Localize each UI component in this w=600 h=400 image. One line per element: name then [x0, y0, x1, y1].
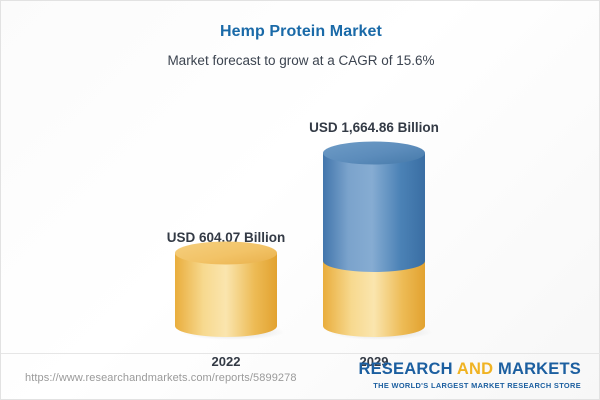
chart-title: Hemp Protein Market [1, 23, 600, 41]
cylinder-2029[interactable] [323, 141, 435, 341]
bar-group-2022: USD 604.07 Billion [175, 79, 277, 341]
value-label-2029: USD 1,664.86 Billion [309, 120, 439, 135]
category-label-2022: 2022 [212, 354, 241, 369]
brand-name: RESEARCH AND MARKETS [358, 361, 581, 378]
bar-group-2029: USD 1,664.86 Billion [323, 79, 425, 341]
plot-area: USD 604.07 Billion [1, 79, 600, 341]
brand-word-research: RESEARCH [358, 360, 456, 378]
brand-tagline: THE WORLD'S LARGEST MARKET RESEARCH STOR… [358, 381, 581, 390]
brand-word-and: AND [457, 360, 493, 378]
cylinder-2022[interactable] [175, 241, 287, 341]
brand-logo: RESEARCH AND MARKETS THE WORLD'S LARGEST… [358, 361, 581, 390]
footer-divider [1, 353, 600, 354]
chart-card: Hemp Protein Market Market forecast to g… [0, 0, 600, 400]
source-url[interactable]: https://www.researchandmarkets.com/repor… [25, 372, 297, 384]
chart-subtitle: Market forecast to grow at a CAGR of 15.… [1, 53, 600, 68]
brand-word-markets: MARKETS [493, 360, 581, 378]
